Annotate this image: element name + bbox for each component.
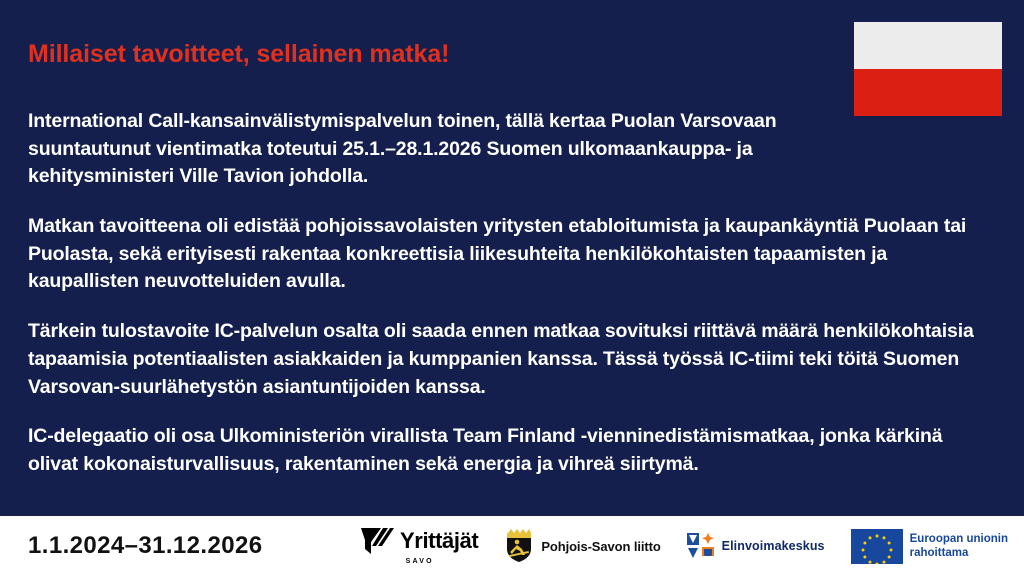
body-text-block: International Call-kansainvälistymispalv… [28, 108, 978, 479]
eu-flag-icon [851, 529, 903, 564]
poland-flag-icon [854, 22, 1002, 116]
paragraph-1: International Call-kansainvälistymispalv… [28, 108, 788, 191]
yrittajat-row: Yrittäjät [361, 527, 478, 555]
eu-funding-line2: rahoittama [910, 546, 1008, 560]
footer-bar: 1.1.2024–31.12.2026 Yrittäjät SAVO [0, 516, 1024, 576]
logo-elinvoimakeskus: Elinvoimakeskus [687, 533, 825, 559]
logo-eu-funding: Euroopan unionin rahoittama [851, 529, 1008, 564]
pohjois-savo-coat-of-arms-icon [504, 529, 534, 563]
slide-canvas: Millaiset tavoitteet, sellainen matka! I… [0, 0, 1024, 576]
yrittajat-wordmark: Yrittäjät [400, 530, 478, 552]
eu-funding-line1: Euroopan unionin [910, 532, 1008, 546]
yrittajat-region-label: SAVO [361, 558, 478, 565]
page-title: Millaiset tavoitteet, sellainen matka! [28, 40, 824, 69]
project-date-range: 1.1.2024–31.12.2026 [28, 532, 263, 560]
logo-yrittajat: Yrittäjät SAVO [361, 527, 478, 565]
elinvoimakeskus-wordmark: Elinvoimakeskus [722, 539, 825, 553]
logo-strip: Yrittäjät SAVO Pohjois-Savon liitto [361, 527, 1008, 565]
pohjois-savon-liitto-wordmark: Pohjois-Savon liitto [541, 539, 660, 554]
paragraph-4: IC-delegaatio oli osa Ulkoministeriön vi… [28, 423, 978, 478]
elinvoimakeskus-mark-icon [687, 533, 715, 559]
eu-funding-text: Euroopan unionin rahoittama [910, 532, 1008, 561]
yrittajat-funnel-icon [361, 527, 395, 555]
logo-pohjois-savon-liitto: Pohjois-Savon liitto [504, 529, 660, 563]
flag-band-white [854, 22, 1002, 69]
paragraph-3: Tärkein tulostavoite IC-palvelun osalta … [28, 318, 978, 401]
paragraph-2: Matkan tavoitteena oli edistää pohjoissa… [28, 213, 978, 296]
title-block: Millaiset tavoitteet, sellainen matka! [28, 40, 824, 103]
